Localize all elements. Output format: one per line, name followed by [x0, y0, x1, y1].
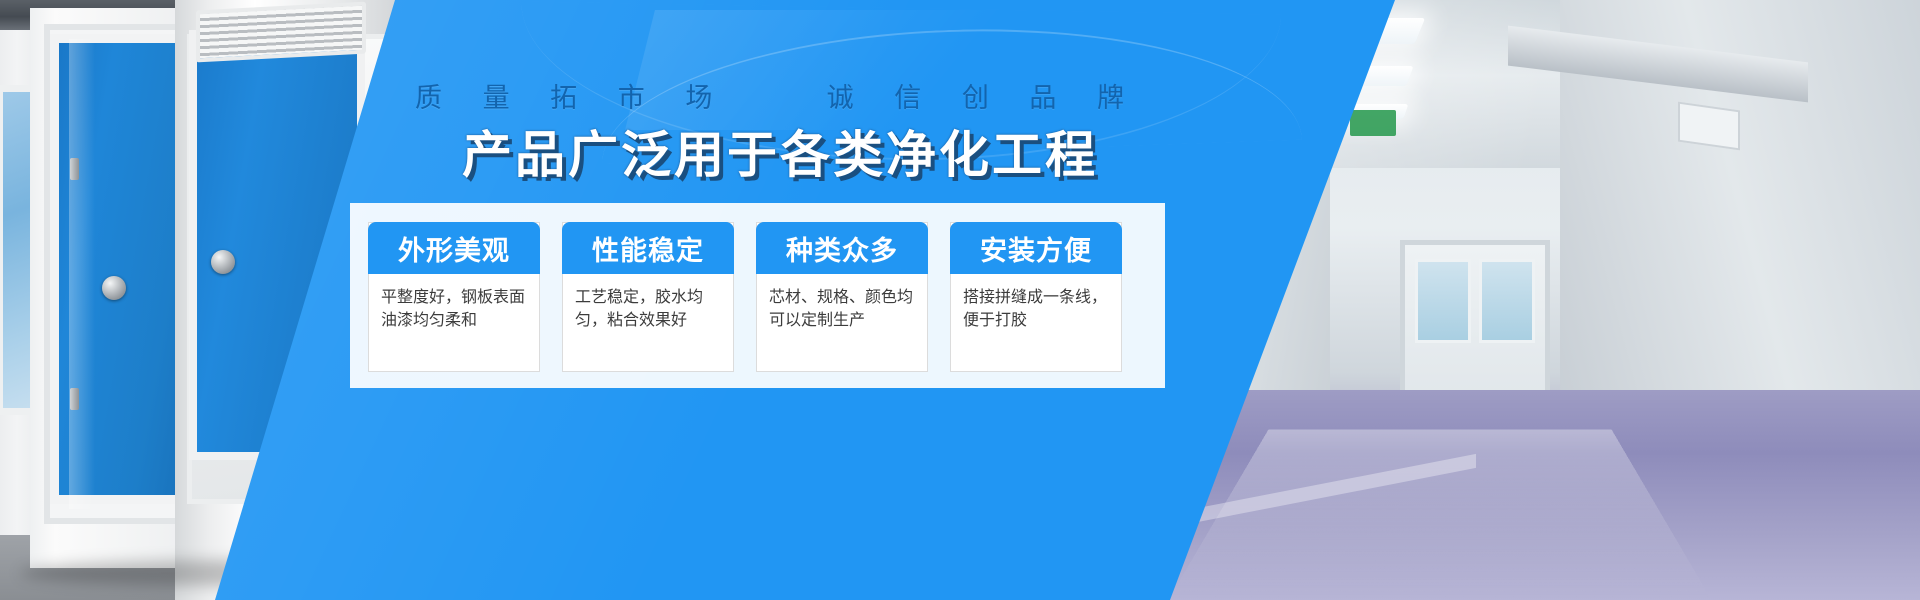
promo-banner: 质 量 拓 市 场 诚 信 创 品 牌 产品广泛用于各类净化工程 外形美观 平整… — [0, 0, 1920, 600]
ventilation-grille-icon — [196, 2, 366, 63]
feature-card-title: 外形美观 — [368, 222, 540, 274]
feature-card-text: 平整度好，钢板表面油漆均匀柔和 — [369, 274, 539, 371]
door-hinge-icon — [70, 388, 79, 410]
feature-card-text: 工艺稳定，胶水均匀，粘合效果好 — [563, 274, 733, 371]
feature-card-title: 种类众多 — [756, 222, 928, 274]
feature-card-text: 芯材、规格、颜色均可以定制生产 — [757, 274, 927, 371]
feature-card-title: 安装方便 — [950, 222, 1122, 274]
feature-card-title: 性能稳定 — [562, 222, 734, 274]
feature-card[interactable]: 安装方便 搭接拼缝成一条线，便于打胶 — [950, 222, 1122, 372]
banner-headline: 产品广泛用于各类净化工程 — [0, 115, 1560, 187]
banner-tagline: 质 量 拓 市 场 诚 信 创 品 牌 — [0, 76, 1555, 115]
door-knob-icon — [211, 250, 235, 274]
door-knob-icon — [102, 276, 126, 300]
feature-card-list: 外形美观 平整度好，钢板表面油漆均匀柔和 性能稳定 工艺稳定，胶水均匀，粘合效果… — [368, 222, 1148, 372]
feature-card-text: 搭接拼缝成一条线，便于打胶 — [951, 274, 1121, 371]
feature-card[interactable]: 性能稳定 工艺稳定，胶水均匀，粘合效果好 — [562, 222, 734, 372]
feature-card[interactable]: 外形美观 平整度好，钢板表面油漆均匀柔和 — [368, 222, 540, 372]
feature-card[interactable]: 种类众多 芯材、规格、颜色均可以定制生产 — [756, 222, 928, 372]
wall-panel-sign — [1678, 102, 1740, 151]
